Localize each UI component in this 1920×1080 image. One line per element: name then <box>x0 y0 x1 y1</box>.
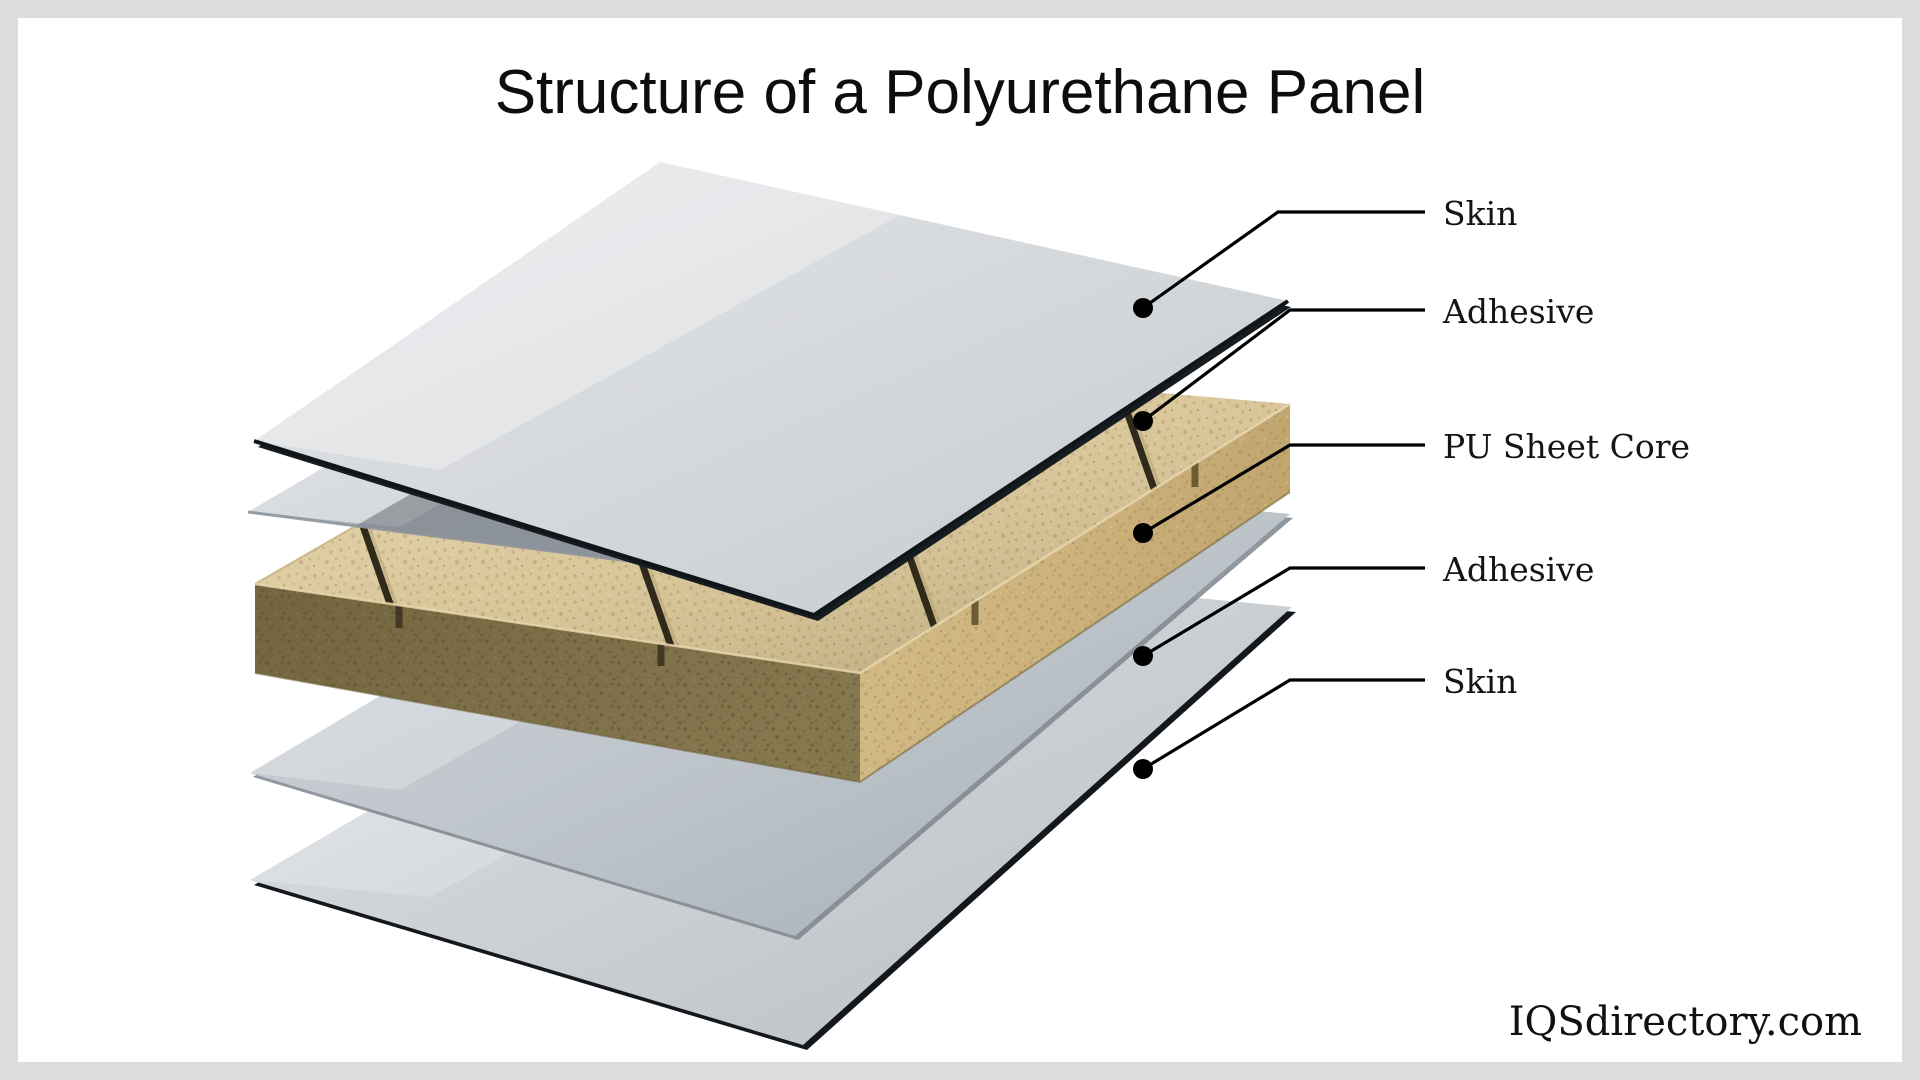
callout-dot-3 <box>1133 523 1153 543</box>
callout-dot-4 <box>1133 646 1153 666</box>
image-frame: Structure of a Polyurethane Panel <box>0 0 1920 1080</box>
callout-dot-5 <box>1133 759 1153 779</box>
callout-dot-1 <box>1133 298 1153 318</box>
page-title: Structure of a Polyurethane Panel <box>495 58 1426 127</box>
callout-label-adhesive-top: Adhesive <box>1442 292 1594 331</box>
watermark: IQSdirectory.com <box>1509 999 1862 1045</box>
polyurethane-panel-diagram: Structure of a Polyurethane Panel <box>0 0 1920 1080</box>
callout-label-pu-sheet-core: PU Sheet Core <box>1443 427 1690 466</box>
callout-label-adhesive-bottom: Adhesive <box>1442 550 1594 589</box>
callout-label-skin-top: Skin <box>1443 194 1517 233</box>
callout-label-skin-bottom: Skin <box>1443 662 1517 701</box>
callout-dot-2 <box>1133 411 1153 431</box>
